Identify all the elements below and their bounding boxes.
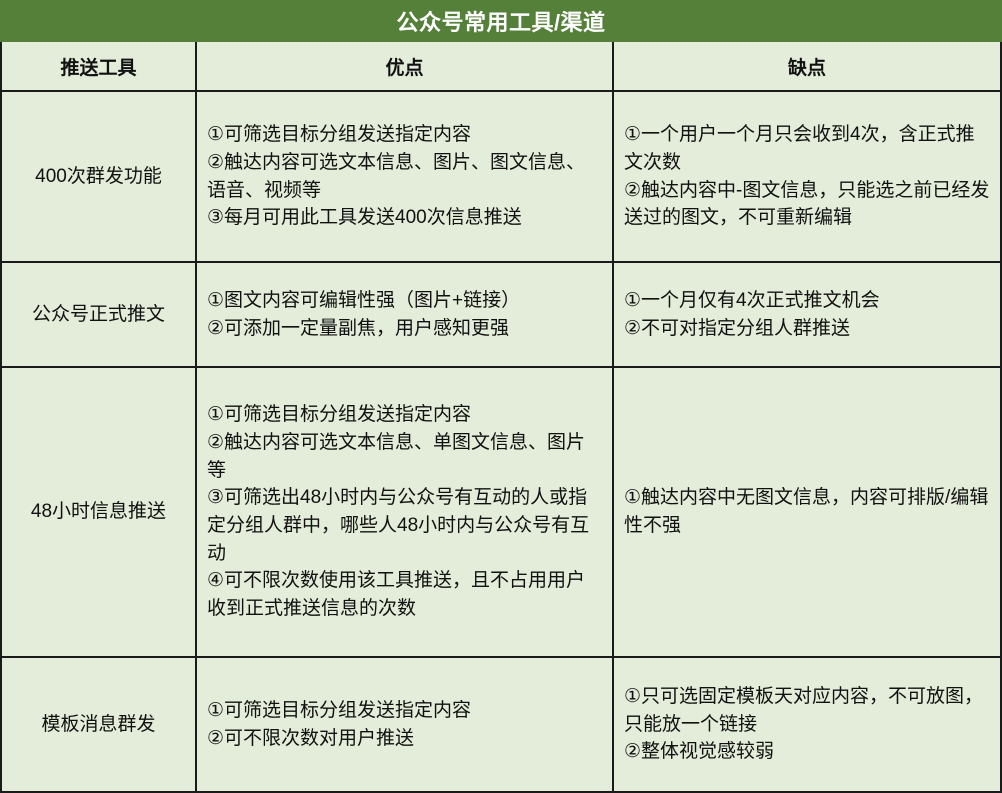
row-cons-cell: ①一个月仅有4次正式推文机会 ②不可对指定分组人群推送: [614, 263, 1000, 366]
row-tool-name: 400次群发功能: [2, 92, 197, 261]
list-item: ②触达内容可选文本信息、单图文信息、图片等: [207, 429, 602, 484]
list-item: ①图文内容可编辑性强（图片+链接）: [207, 287, 602, 315]
list-item: ①可筛选目标分组发送指定内容: [207, 697, 602, 725]
comparison-table: 公众号常用工具/渠道 推送工具 优点 缺点 400次群发功能 ①可筛选目标分组发…: [0, 0, 1002, 793]
cons-list: ①一个月仅有4次正式推文机会 ②不可对指定分组人群推送: [624, 287, 990, 342]
list-item: ①触达内容中无图文信息，内容可排版/编辑性不强: [624, 484, 990, 539]
list-item: ②可添加一定量副焦，用户感知更强: [207, 315, 602, 343]
list-item: ②不可对指定分组人群推送: [624, 315, 990, 343]
list-item: ①可筛选目标分组发送指定内容: [207, 401, 602, 429]
table-grid: 推送工具 优点 缺点 400次群发功能 ①可筛选目标分组发送指定内容 ②触达内容…: [0, 42, 1002, 793]
row-tool-name: 48小时信息推送: [2, 368, 197, 656]
list-item: ①只可选固定模板天对应内容，不可放图，只能放一个链接: [624, 683, 990, 738]
pros-list: ①可筛选目标分组发送指定内容 ②可不限次数对用户推送: [207, 697, 602, 752]
row-cons-cell: ①只可选固定模板天对应内容，不可放图，只能放一个链接 ②整体视觉感较弱: [614, 658, 1000, 791]
row-tool-name: 模板消息群发: [2, 658, 197, 791]
column-header-tool: 推送工具: [2, 42, 197, 90]
row-pros-cell: ①可筛选目标分组发送指定内容 ②触达内容可选文本信息、单图文信息、图片等 ③可筛…: [197, 368, 614, 656]
list-item: ②可不限次数对用户推送: [207, 725, 602, 753]
row-cons-cell: ①触达内容中无图文信息，内容可排版/编辑性不强: [614, 368, 1000, 656]
pros-list: ①图文内容可编辑性强（图片+链接） ②可添加一定量副焦，用户感知更强: [207, 287, 602, 342]
row-pros-cell: ①图文内容可编辑性强（图片+链接） ②可添加一定量副焦，用户感知更强: [197, 263, 614, 366]
list-item: ①一个月仅有4次正式推文机会: [624, 287, 990, 315]
list-item: ①可筛选目标分组发送指定内容: [207, 121, 602, 149]
pros-list: ①可筛选目标分组发送指定内容 ②触达内容可选文本信息、单图文信息、图片等 ③可筛…: [207, 401, 602, 623]
list-item: ②整体视觉感较弱: [624, 738, 990, 766]
pros-list: ①可筛选目标分组发送指定内容 ②触达内容可选文本信息、图片、图文信息、语音、视频…: [207, 121, 602, 232]
column-header-cons: 缺点: [614, 42, 1000, 90]
table-row: 公众号正式推文 ①图文内容可编辑性强（图片+链接） ②可添加一定量副焦，用户感知…: [2, 263, 1000, 368]
table-row: 模板消息群发 ①可筛选目标分组发送指定内容 ②可不限次数对用户推送 ①只可选固定…: [2, 658, 1000, 791]
table-title: 公众号常用工具/渠道: [0, 0, 1002, 42]
list-item: ②触达内容可选文本信息、图片、图文信息、语音、视频等: [207, 149, 602, 204]
list-item: ③可筛选出48小时内与公众号有互动的人或指定分组人群中，哪些人48小时内与公众号…: [207, 484, 602, 567]
table-header-row: 推送工具 优点 缺点: [2, 42, 1000, 92]
column-header-pros: 优点: [197, 42, 614, 90]
list-item: ②触达内容中-图文信息，只能选之前已经发送过的图文，不可重新编辑: [624, 177, 990, 232]
cons-list: ①只可选固定模板天对应内容，不可放图，只能放一个链接 ②整体视觉感较弱: [624, 683, 990, 766]
cons-list: ①触达内容中无图文信息，内容可排版/编辑性不强: [624, 484, 990, 539]
cons-list: ①一个用户一个月只会收到4次，含正式推文次数 ②触达内容中-图文信息，只能选之前…: [624, 121, 990, 232]
table-row: 48小时信息推送 ①可筛选目标分组发送指定内容 ②触达内容可选文本信息、单图文信…: [2, 368, 1000, 658]
table-row: 400次群发功能 ①可筛选目标分组发送指定内容 ②触达内容可选文本信息、图片、图…: [2, 92, 1000, 263]
list-item: ①一个用户一个月只会收到4次，含正式推文次数: [624, 121, 990, 176]
row-cons-cell: ①一个用户一个月只会收到4次，含正式推文次数 ②触达内容中-图文信息，只能选之前…: [614, 92, 1000, 261]
row-tool-name: 公众号正式推文: [2, 263, 197, 366]
list-item: ③每月可用此工具发送400次信息推送: [207, 204, 602, 232]
row-pros-cell: ①可筛选目标分组发送指定内容 ②可不限次数对用户推送: [197, 658, 614, 791]
row-pros-cell: ①可筛选目标分组发送指定内容 ②触达内容可选文本信息、图片、图文信息、语音、视频…: [197, 92, 614, 261]
list-item: ④可不限次数使用该工具推送，且不占用用户收到正式推送信息的次数: [207, 567, 602, 622]
